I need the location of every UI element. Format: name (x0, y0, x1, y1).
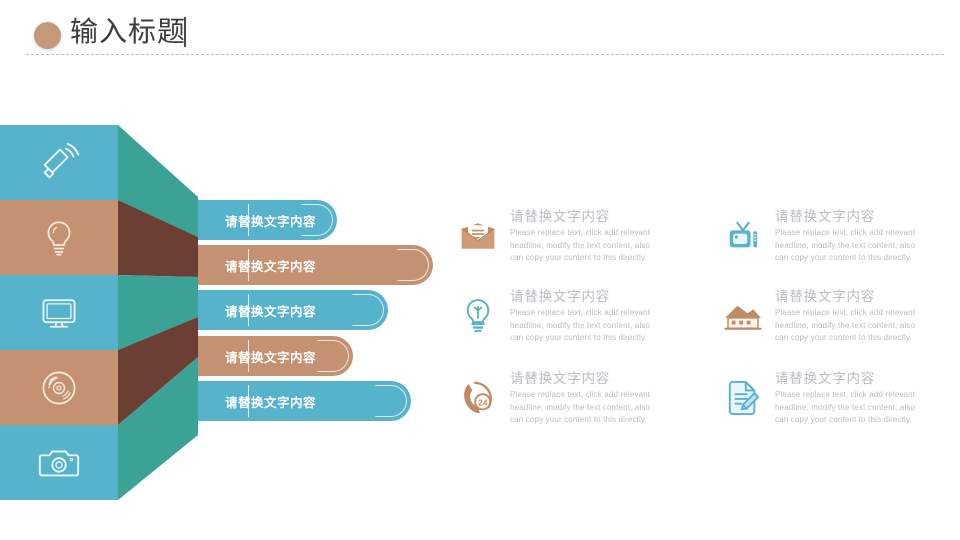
cell-title: 请替换文字内容 (775, 205, 875, 225)
header-divider (26, 54, 944, 55)
cell-body: Please replace text, click add relevant … (510, 227, 662, 265)
funnel-left-strip-1[interactable] (0, 125, 118, 200)
funnel-left-strip-4[interactable] (0, 350, 118, 425)
megaphone-icon (0, 125, 118, 200)
funnel-left-strip-5[interactable] (0, 425, 118, 500)
funnel-diagram: 请替换文字内容 请替换文字内容 请替换文字内容 请替换文字内容 请替换文字内容 (0, 125, 460, 520)
house-icon (720, 293, 766, 339)
funnel-bar-label: 请替换文字内容 (225, 211, 316, 230)
header-bullet-icon (34, 22, 61, 49)
text-cursor (184, 17, 186, 47)
funnel-bar-label: 请替换文字内容 (225, 347, 316, 366)
page-title[interactable]: 输入标题 (70, 15, 186, 49)
monitor-icon (0, 275, 118, 350)
funnel-perspective-faces (118, 125, 198, 520)
funnel-bar-2[interactable]: 请替换文字内容 (198, 245, 433, 285)
cell-body: Please replace text, click add relevant … (775, 227, 927, 265)
lightbulb-icon (455, 293, 501, 339)
funnel-bar-label: 请替换文字内容 (225, 256, 316, 275)
disc-icon (0, 350, 118, 425)
bar-arc-decor (375, 385, 407, 417)
funnel-bar-label: 请替换文字内容 (225, 301, 316, 320)
slide-canvas: 输入标题 (0, 0, 960, 540)
cell-title: 请替换文字内容 (775, 285, 875, 305)
funnel-bar-label: 请替换文字内容 (225, 392, 316, 411)
cell-title: 请替换文字内容 (510, 205, 610, 225)
funnel-bar-5[interactable]: 请替换文字内容 (198, 381, 411, 421)
cell-body: Please replace text, click add relevant … (775, 307, 927, 345)
cell-body: Please replace text, click add relevant … (775, 389, 927, 427)
funnel-bar-3[interactable]: 请替换文字内容 (198, 290, 388, 330)
cell-title: 请替换文字内容 (510, 285, 610, 305)
cell-body: Please replace text, click add relevant … (510, 389, 662, 427)
svg-text:24: 24 (478, 398, 488, 408)
cell-title: 请替换文字内容 (775, 367, 875, 387)
content-grid: 请替换文字内容 Please replace text, click add r… (455, 205, 935, 445)
bar-arc-decor (397, 249, 429, 281)
bar-arc-decor (352, 294, 384, 326)
phone-24h-icon: 24 (455, 375, 501, 421)
cell-title: 请替换文字内容 (510, 367, 610, 387)
camera-icon (0, 425, 118, 500)
slide-header: 输入标题 (0, 0, 960, 56)
envelope-message-icon (455, 213, 501, 259)
funnel-left-strip-3[interactable] (0, 275, 118, 350)
bar-arc-decor (317, 340, 349, 372)
cell-body: Please replace text, click add relevant … (510, 307, 662, 345)
funnel-bar-4[interactable]: 请替换文字内容 (198, 336, 353, 376)
television-icon (720, 213, 766, 259)
funnel-bar-1[interactable]: 请替换文字内容 (198, 200, 337, 240)
document-pencil-icon (720, 375, 766, 421)
funnel-left-strip-2[interactable] (0, 200, 118, 275)
lightbulb-icon (0, 200, 118, 275)
